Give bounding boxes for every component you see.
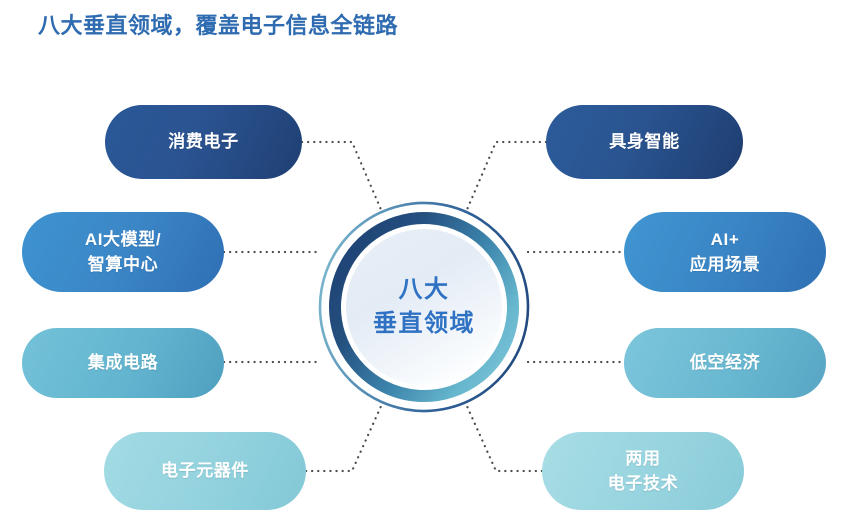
node-label-dual-use-electronics-line1: 两用 [625, 446, 660, 471]
node-label-embodied-intelligence: 具身智能 [609, 130, 679, 154]
center-hub: 八大 垂直领域 [315, 198, 533, 416]
node-label-integrated-circuits: 集成电路 [88, 351, 158, 375]
node-ai-plus-scenarios[interactable]: AI+ 应用场景 [624, 212, 826, 292]
hub-label-group: 八大 垂直领域 [315, 198, 533, 416]
node-consumer-electronics[interactable]: 消费电子 [105, 105, 302, 179]
node-dual-use-electronics[interactable]: 两用 电子技术 [542, 432, 744, 510]
node-label-ai-large-model-line1: AI大模型/ [85, 227, 161, 252]
node-embodied-intelligence[interactable]: 具身智能 [546, 105, 743, 179]
node-label-ai-plus-scenarios-line1: AI+ [711, 227, 740, 252]
node-label-ai-large-model-line2: 智算中心 [88, 252, 158, 277]
node-electronic-components[interactable]: 电子元器件 [104, 432, 306, 510]
node-label-low-altitude-economy: 低空经济 [690, 351, 760, 375]
node-label-ai-plus-scenarios-line2: 应用场景 [690, 252, 760, 277]
hub-label-line2: 垂直领域 [373, 308, 475, 340]
node-integrated-circuits[interactable]: 集成电路 [22, 328, 224, 398]
hub-label-line1: 八大 [399, 274, 450, 306]
node-label-consumer-electronics: 消费电子 [168, 130, 238, 154]
page-title: 八大垂直领域，覆盖电子信息全链路 [38, 11, 398, 41]
infographic-root: 八大垂直领域，覆盖电子信息全链路 [0, 0, 848, 531]
node-label-dual-use-electronics-line2: 电子技术 [608, 471, 678, 496]
node-ai-large-model[interactable]: AI大模型/ 智算中心 [22, 212, 224, 292]
node-label-electronic-components: 电子元器件 [161, 459, 249, 483]
node-low-altitude-economy[interactable]: 低空经济 [624, 328, 826, 398]
